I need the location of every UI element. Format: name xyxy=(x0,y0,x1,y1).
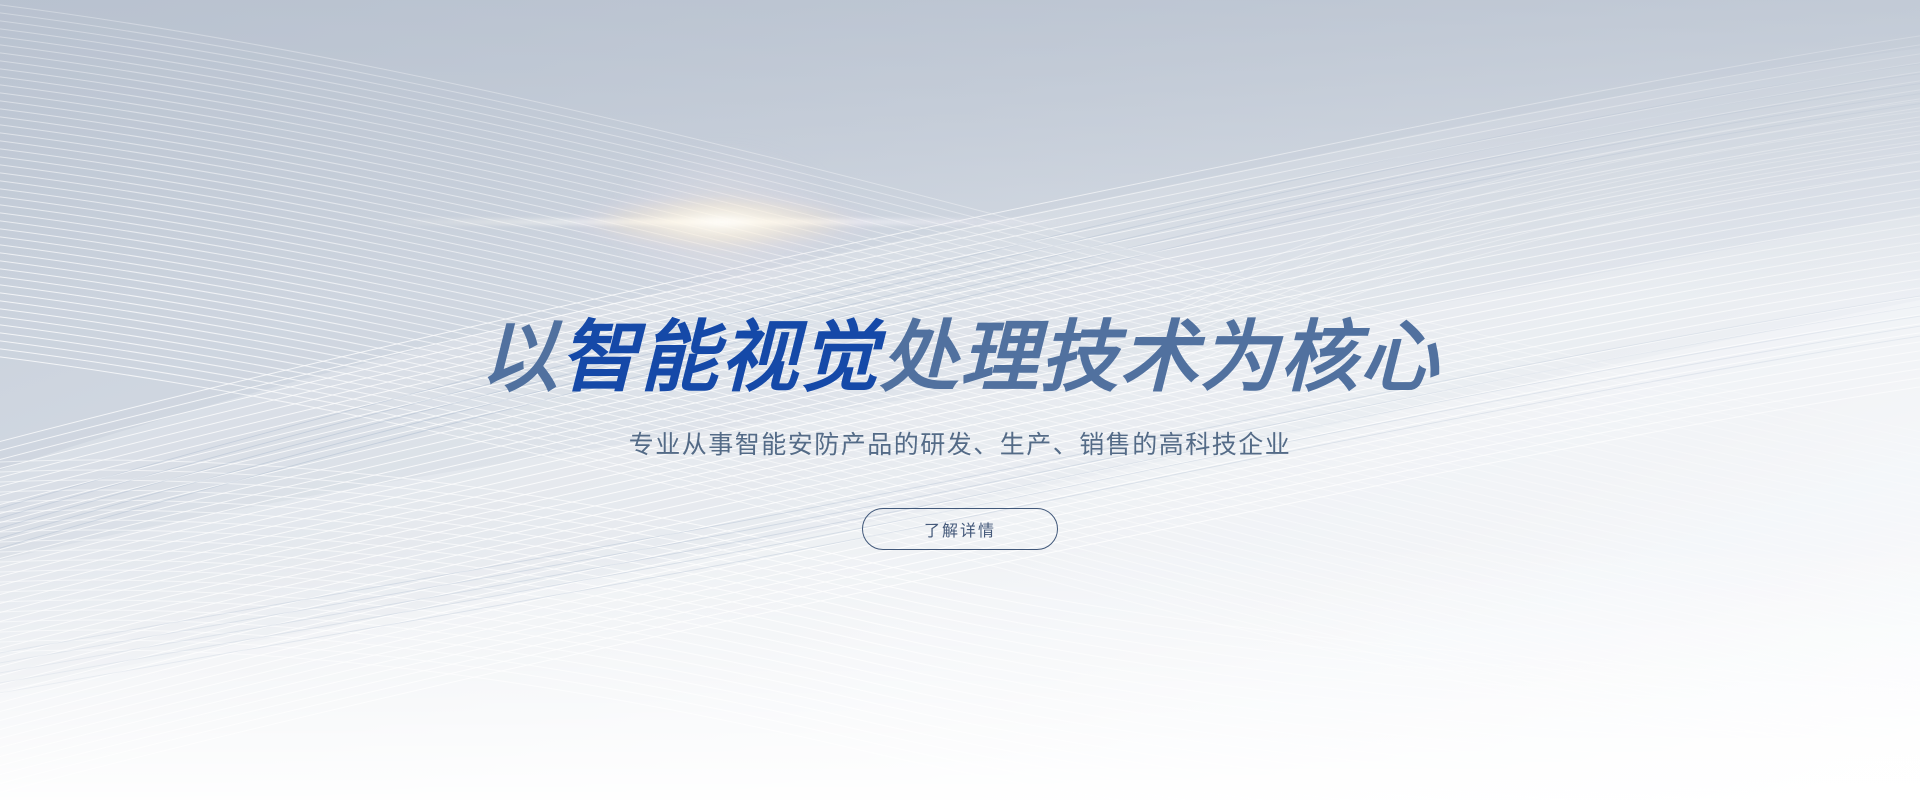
hero-banner: 以智能视觉处理技术为核心 专业从事智能安防产品的研发、生产、销售的高科技企业 了… xyxy=(0,0,1920,800)
headline-segment-1: 以 xyxy=(480,313,560,403)
hero-content: 以智能视觉处理技术为核心 专业从事智能安防产品的研发、生产、销售的高科技企业 了… xyxy=(0,0,1920,800)
page-title: 以智能视觉处理技术为核心 xyxy=(0,314,1920,402)
headline-segment-2: 智能视觉 xyxy=(560,313,880,403)
page-subtitle: 专业从事智能安防产品的研发、生产、销售的高科技企业 xyxy=(0,428,1920,462)
cta-container: 了解详情 xyxy=(0,508,1920,550)
headline-segment-3: 处理技术为核心 xyxy=(880,313,1440,403)
learn-more-button[interactable]: 了解详情 xyxy=(862,508,1058,550)
